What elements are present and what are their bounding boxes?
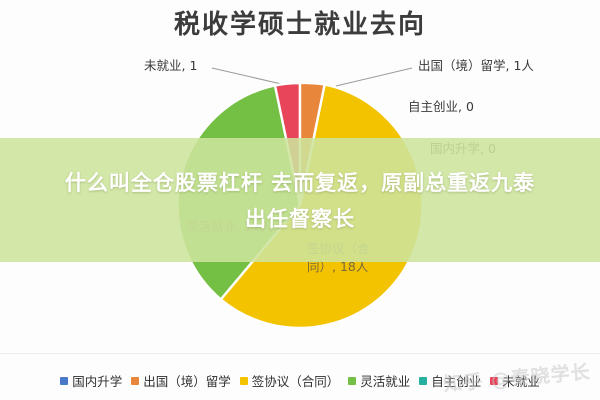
overlay-headline-line1: 什么叫全仓股票杠杆 去而复返，原副总重返九泰 bbox=[65, 167, 535, 197]
overlay-banner-text: 什么叫全仓股票杠杆 去而复返，原副总重返九泰 出任督察长 bbox=[0, 138, 600, 262]
legend-item-label: 出国（境）留学 bbox=[143, 371, 231, 390]
pie-label-zizhuchuangye: 自主创业, 0 bbox=[408, 96, 474, 115]
legend-item-label: 国内升学 bbox=[72, 371, 122, 390]
legend-item-linghuojiuye[interactable]: 灵活就业 bbox=[348, 371, 410, 390]
page-title: 税收学硕士就业去向 bbox=[0, 4, 600, 41]
legend-item-label: 灵活就业 bbox=[360, 371, 410, 390]
legend-swatch-icon bbox=[131, 377, 139, 385]
pie-label-weijiuye: 未就业, 1 bbox=[144, 55, 197, 74]
watermark: 知乎 @秦晓学长 bbox=[443, 357, 592, 397]
legend-item-guoneishengxue[interactable]: 国内升学 bbox=[60, 371, 122, 390]
legend-item-qianxieyi[interactable]: 签协议（合同） bbox=[240, 371, 340, 390]
legend-swatch-icon bbox=[348, 377, 356, 385]
legend-swatch-icon bbox=[240, 377, 248, 385]
pie-label-chuguoliuxue: 出国（境）留学, 1人 bbox=[418, 55, 534, 74]
legend-item-chuguoliuxue[interactable]: 出国（境）留学 bbox=[131, 371, 231, 390]
legend-item-label: 签协议（合同） bbox=[252, 371, 340, 390]
screenshot-root: 税收学硕士就业去向 未就业, 1 出国（境）留学, 1人 自主创业, 0 国内升… bbox=[0, 0, 600, 400]
legend-divider bbox=[0, 353, 600, 354]
overlay-headline-line2: 出任督察长 bbox=[245, 203, 355, 233]
legend-swatch-icon bbox=[60, 377, 68, 385]
legend-swatch-icon bbox=[419, 377, 427, 385]
